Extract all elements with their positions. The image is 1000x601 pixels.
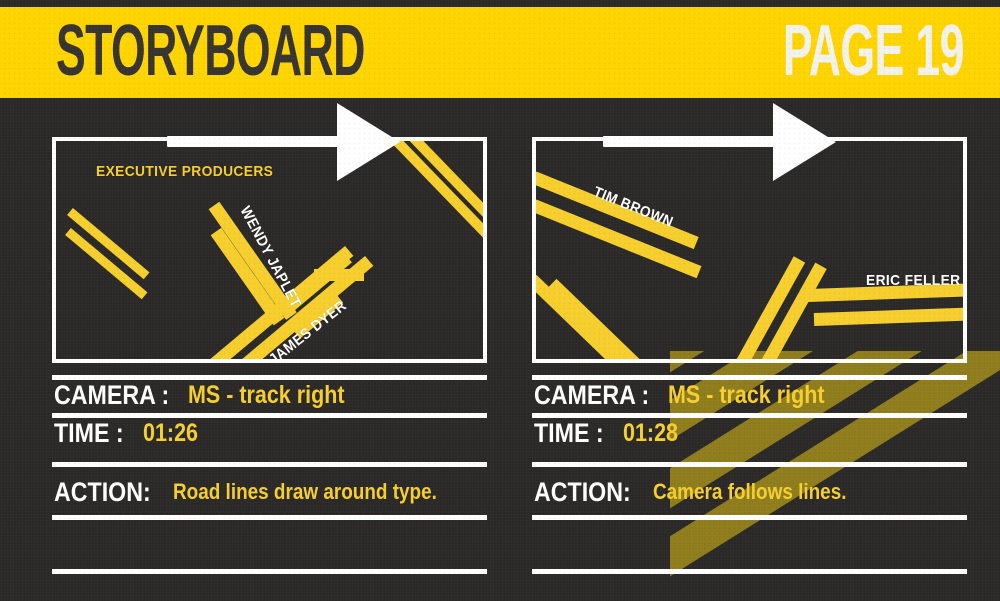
- field-label-time: TIME :: [534, 418, 604, 448]
- field-label-time: TIME :: [54, 418, 124, 448]
- field-divider: [532, 462, 967, 467]
- panel-fields-right: CAMERA : MS - track right TIME : 01:28 A…: [532, 372, 967, 574]
- road-line: [314, 269, 364, 281]
- page-header: STORYBOARD PAGE 19: [0, 7, 1000, 98]
- field-value-camera: MS - track right: [188, 380, 345, 410]
- field-divider-bottom: [532, 569, 967, 574]
- field-label-action: ACTION:: [534, 477, 631, 507]
- storyboard-page: STORYBOARD PAGE 19: [0, 0, 1000, 601]
- field-label-camera: CAMERA :: [54, 380, 169, 410]
- arrow-right-icon: [603, 105, 838, 190]
- road-line: [814, 307, 963, 326]
- page-number-label: PAGE 19: [783, 15, 964, 87]
- field-camera: CAMERA : MS - track right: [52, 375, 487, 418]
- field-value-time: 01:28: [623, 418, 678, 448]
- field-value-action: Camera follows lines.: [653, 477, 846, 507]
- field-value-time: 01:26: [143, 418, 198, 448]
- field-value-action: Road lines draw around type.: [173, 477, 437, 507]
- field-time: TIME : 01:28: [532, 418, 967, 467]
- field-label-camera: CAMERA :: [534, 380, 649, 410]
- arrow-right-icon: [167, 105, 402, 190]
- field-spacer: [52, 520, 487, 566]
- arrow-shaft: [167, 136, 342, 147]
- field-time: TIME : 01:26: [52, 418, 487, 467]
- field-action: ACTION: Road lines draw around type.: [52, 477, 487, 519]
- field-divider: [532, 515, 967, 520]
- arrow-head: [773, 103, 836, 181]
- field-spacer: [532, 520, 967, 566]
- field-label-action: ACTION:: [54, 477, 151, 507]
- field-divider: [52, 462, 487, 467]
- field-divider-bottom: [52, 569, 487, 574]
- page-title: STORYBOARD: [56, 15, 365, 87]
- frame-label-eric-feller: ERIC FELLER: [866, 272, 961, 289]
- arrow-head: [337, 103, 400, 181]
- arrow-shaft: [603, 136, 778, 147]
- field-camera: CAMERA : MS - track right: [532, 375, 967, 418]
- field-value-camera: MS - track right: [668, 380, 825, 410]
- field-divider: [52, 515, 487, 520]
- field-action: ACTION: Camera follows lines.: [532, 477, 967, 519]
- panel-fields-left: CAMERA : MS - track right TIME : 01:26 A…: [52, 372, 487, 574]
